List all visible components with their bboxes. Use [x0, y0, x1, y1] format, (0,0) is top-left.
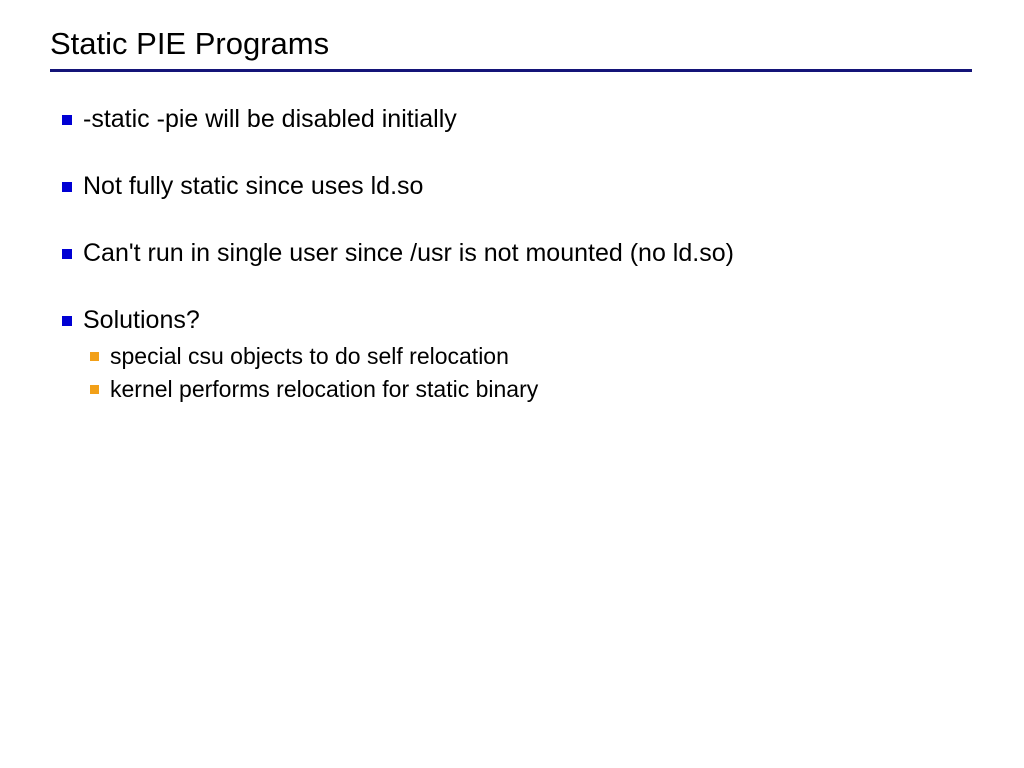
slide-body: -static -pie will be disabled initially …	[62, 104, 1002, 407]
square-bullet-icon	[62, 182, 72, 192]
list-item: -static -pie will be disabled initially	[62, 104, 1002, 135]
square-bullet-icon	[62, 249, 72, 259]
sub-list-item: special csu objects to do self relocatio…	[90, 341, 1002, 371]
bullet-text: -static -pie will be disabled initially	[83, 104, 1002, 135]
sub-list: special csu objects to do self relocatio…	[90, 341, 1002, 404]
list-item: Not fully static since uses ld.so	[62, 171, 1002, 202]
list-item: Solutions?	[62, 305, 1002, 336]
bullet-text: Not fully static since uses ld.so	[83, 171, 1002, 202]
sub-bullet-text: kernel performs relocation for static bi…	[110, 374, 1002, 404]
square-sub-bullet-icon	[90, 385, 99, 394]
sub-bullet-text: special csu objects to do self relocatio…	[110, 341, 1002, 371]
presentation-slide: Static PIE Programs -static -pie will be…	[0, 0, 1024, 768]
slide-title-block: Static PIE Programs	[50, 26, 974, 62]
square-bullet-icon	[62, 115, 72, 125]
list-item: Can't run in single user since /usr is n…	[62, 238, 1002, 269]
square-sub-bullet-icon	[90, 352, 99, 361]
bullet-text: Can't run in single user since /usr is n…	[83, 238, 1002, 269]
bullet-text: Solutions?	[83, 305, 1002, 336]
sub-list-item: kernel performs relocation for static bi…	[90, 374, 1002, 404]
title-underline-rule	[50, 69, 972, 72]
square-bullet-icon	[62, 316, 72, 326]
page-title: Static PIE Programs	[50, 26, 974, 62]
